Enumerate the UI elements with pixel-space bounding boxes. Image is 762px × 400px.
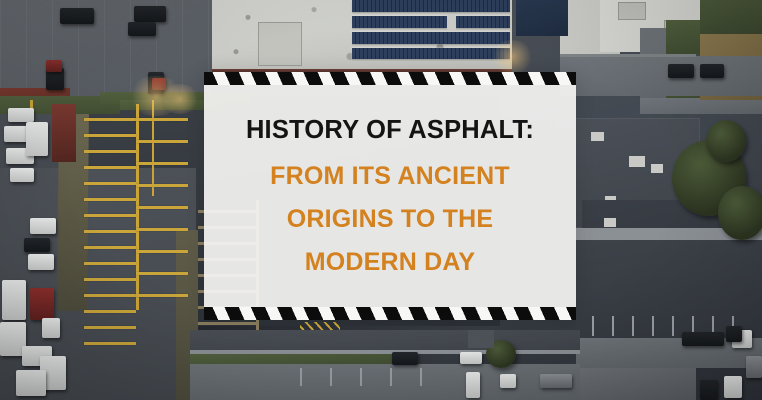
- utility-box: [468, 330, 494, 348]
- parked-car: [540, 374, 572, 388]
- hazard-stripe-bottom: [204, 307, 576, 320]
- parking-line: [652, 316, 654, 336]
- parked-car: [668, 64, 694, 78]
- parking-line: [136, 184, 188, 187]
- parking-line: [84, 198, 136, 201]
- parking-line: [84, 118, 136, 121]
- parking-line: [136, 228, 188, 231]
- roof-vent: [629, 156, 645, 167]
- parking-line: [84, 134, 136, 137]
- grass-area: [666, 20, 700, 54]
- red-container: [52, 104, 76, 162]
- parking-line: [300, 368, 302, 386]
- parking-line: [136, 272, 188, 275]
- parking-line: [84, 246, 136, 249]
- parked-car: [134, 6, 166, 22]
- parking-line: [390, 368, 392, 386]
- solar-panel-array: [352, 32, 510, 44]
- parking-line: [136, 162, 188, 165]
- parking-line: [136, 118, 188, 121]
- parked-car: [500, 374, 516, 388]
- parking-line: [84, 310, 136, 313]
- solar-panel-array: [456, 16, 510, 28]
- roof-vent: [651, 164, 663, 173]
- parking-line: [84, 262, 136, 265]
- parking-line: [330, 368, 332, 386]
- rooftop-with-solar: [212, 0, 512, 72]
- parked-car: [128, 22, 156, 36]
- parking-line: [420, 368, 422, 386]
- tree-canopy: [706, 120, 746, 162]
- parked-car: [30, 218, 56, 234]
- title-card-body: HISTORY OF ASPHALT: FROM ITS ANCIENT ORI…: [204, 85, 576, 307]
- parking-line: [198, 322, 256, 325]
- roof-unit: [618, 2, 646, 20]
- parking-line: [136, 294, 188, 297]
- lower-right-lot: [576, 240, 762, 338]
- drive-aisle: [190, 330, 580, 352]
- solar-panel-array: [516, 0, 568, 36]
- upper-left-pavement: [0, 0, 212, 100]
- solar-panel-array: [352, 0, 510, 12]
- parking-line: [84, 150, 136, 153]
- parking-line: [136, 250, 188, 253]
- subtitle-line-2: ORIGINS TO THE: [287, 203, 494, 235]
- header-graphic: HISTORY OF ASPHALT: FROM ITS ANCIENT ORI…: [0, 0, 762, 400]
- tree-canopy: [718, 186, 762, 240]
- parked-car: [46, 60, 62, 72]
- parking-line: [84, 230, 136, 233]
- lane-line: [152, 100, 154, 196]
- parked-car: [700, 64, 724, 78]
- title-card: HISTORY OF ASPHALT: FROM ITS ANCIENT ORI…: [204, 72, 576, 320]
- parked-car: [724, 376, 742, 398]
- parked-trailer: [16, 370, 46, 396]
- parking-line: [84, 166, 136, 169]
- parking-line: [612, 316, 614, 336]
- parked-car: [30, 288, 54, 320]
- parked-car: [746, 356, 762, 378]
- parked-car: [42, 318, 60, 338]
- parked-car: [24, 238, 50, 252]
- solar-panel-array: [352, 48, 510, 59]
- page-title: HISTORY OF ASPHALT:: [246, 114, 534, 147]
- parked-car: [700, 380, 718, 400]
- parked-truck: [682, 332, 724, 346]
- parked-car: [152, 78, 166, 90]
- concrete-walk: [640, 98, 762, 114]
- parking-line: [672, 316, 674, 336]
- solar-panel-array: [352, 16, 447, 28]
- roof-unit: [258, 22, 302, 66]
- parking-line: [84, 342, 136, 345]
- parking-line: [84, 326, 136, 329]
- parked-trailer: [2, 280, 26, 320]
- parked-van: [466, 372, 480, 398]
- roof-vent: [591, 132, 604, 141]
- lower-building: [576, 368, 696, 400]
- parking-line: [84, 294, 136, 297]
- parking-line: [84, 278, 136, 281]
- parked-car: [392, 352, 418, 365]
- parking-line: [136, 206, 188, 209]
- curb-line: [560, 54, 696, 57]
- parked-car: [28, 254, 54, 270]
- parked-trailer: [8, 108, 34, 122]
- roof-vent: [604, 218, 616, 227]
- parking-line: [136, 140, 188, 143]
- parking-line: [632, 316, 634, 336]
- parked-car: [460, 352, 482, 364]
- parking-line: [360, 368, 362, 386]
- drive-aisle: [560, 56, 762, 96]
- subtitle-line-1: FROM ITS ANCIENT: [270, 160, 510, 192]
- parked-car: [726, 326, 742, 342]
- parked-trailer: [10, 168, 34, 182]
- parked-car: [60, 8, 94, 24]
- parking-line: [84, 214, 136, 217]
- parking-line: [592, 316, 594, 336]
- hazard-stripe-top: [204, 72, 576, 85]
- subtitle-line-3: MODERN DAY: [305, 246, 476, 278]
- grass-area: [700, 0, 762, 34]
- parking-line: [84, 182, 136, 185]
- lower-parking: [190, 364, 580, 400]
- parked-trailer: [26, 122, 48, 156]
